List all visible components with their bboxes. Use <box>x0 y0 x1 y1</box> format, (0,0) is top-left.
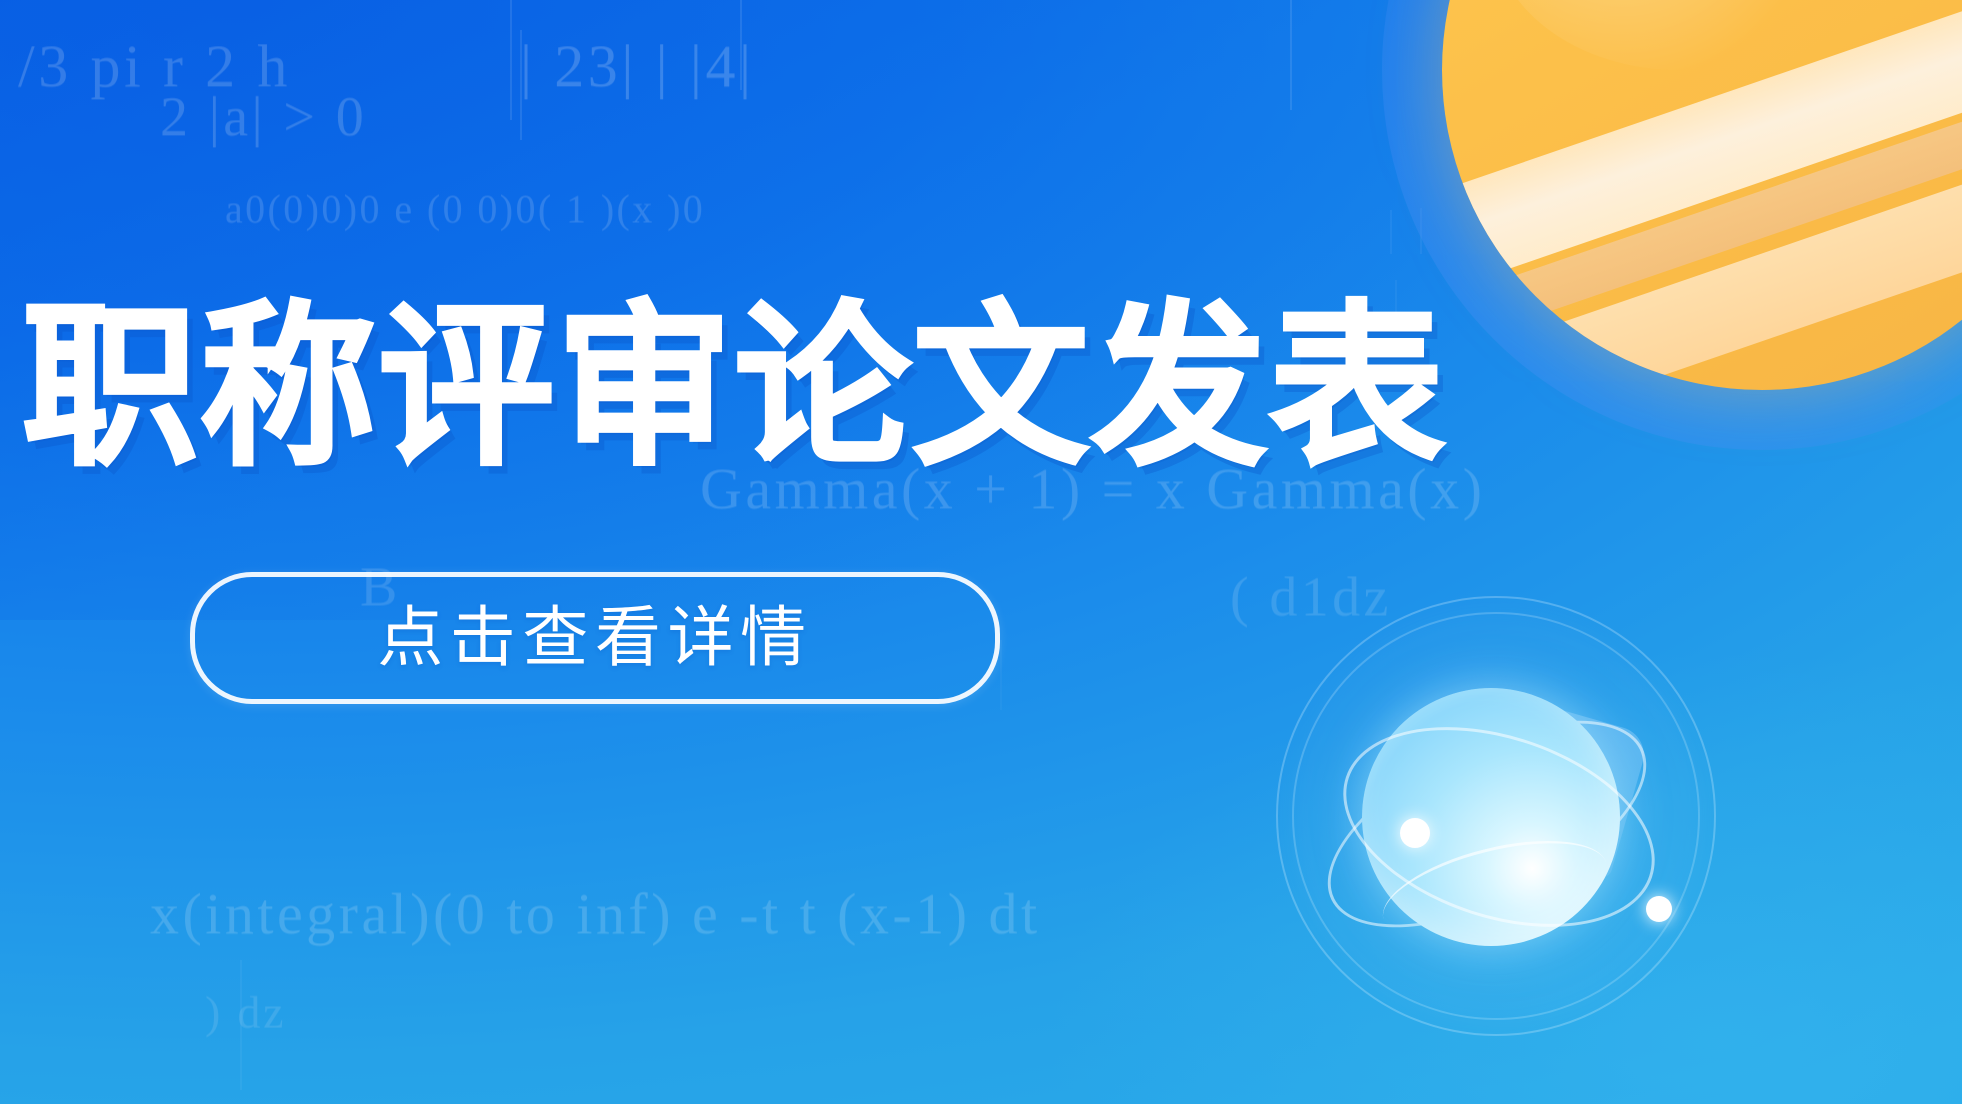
view-details-button-label: 点击查看详情 <box>377 605 813 671</box>
atom-electron-icon <box>1400 818 1430 848</box>
poster-canvas: /3 pi r 2 h | 23| | |4| 2 |a| > 0 a0(0)0… <box>0 0 1962 1104</box>
decorative-hairline <box>1000 640 1002 710</box>
background-formula: x(integral)(0 to inf) e -t t (x-1) dt <box>150 880 1041 947</box>
view-details-button[interactable]: 点击查看详情 <box>190 572 1000 704</box>
atom-electron-icon <box>1646 896 1672 922</box>
background-formula: a0(0)0)0 e (0 0)0( 1 )(x )0 <box>225 185 705 232</box>
decorative-hairline <box>1290 0 1292 110</box>
background-formula: 2 |a| > 0 <box>160 85 367 149</box>
decorative-hairline <box>510 0 512 120</box>
atom-sphere-graphic <box>1276 596 1716 1036</box>
page-title: 职称评审论文发表 <box>22 300 1442 476</box>
background-formula: | 23| | |4| <box>520 32 755 101</box>
planet-highlight <box>1493 0 1864 70</box>
decorative-hairline <box>1390 210 1392 254</box>
background-formula: ) dz <box>205 985 286 1038</box>
saturn-planet-graphic <box>1442 0 1962 390</box>
